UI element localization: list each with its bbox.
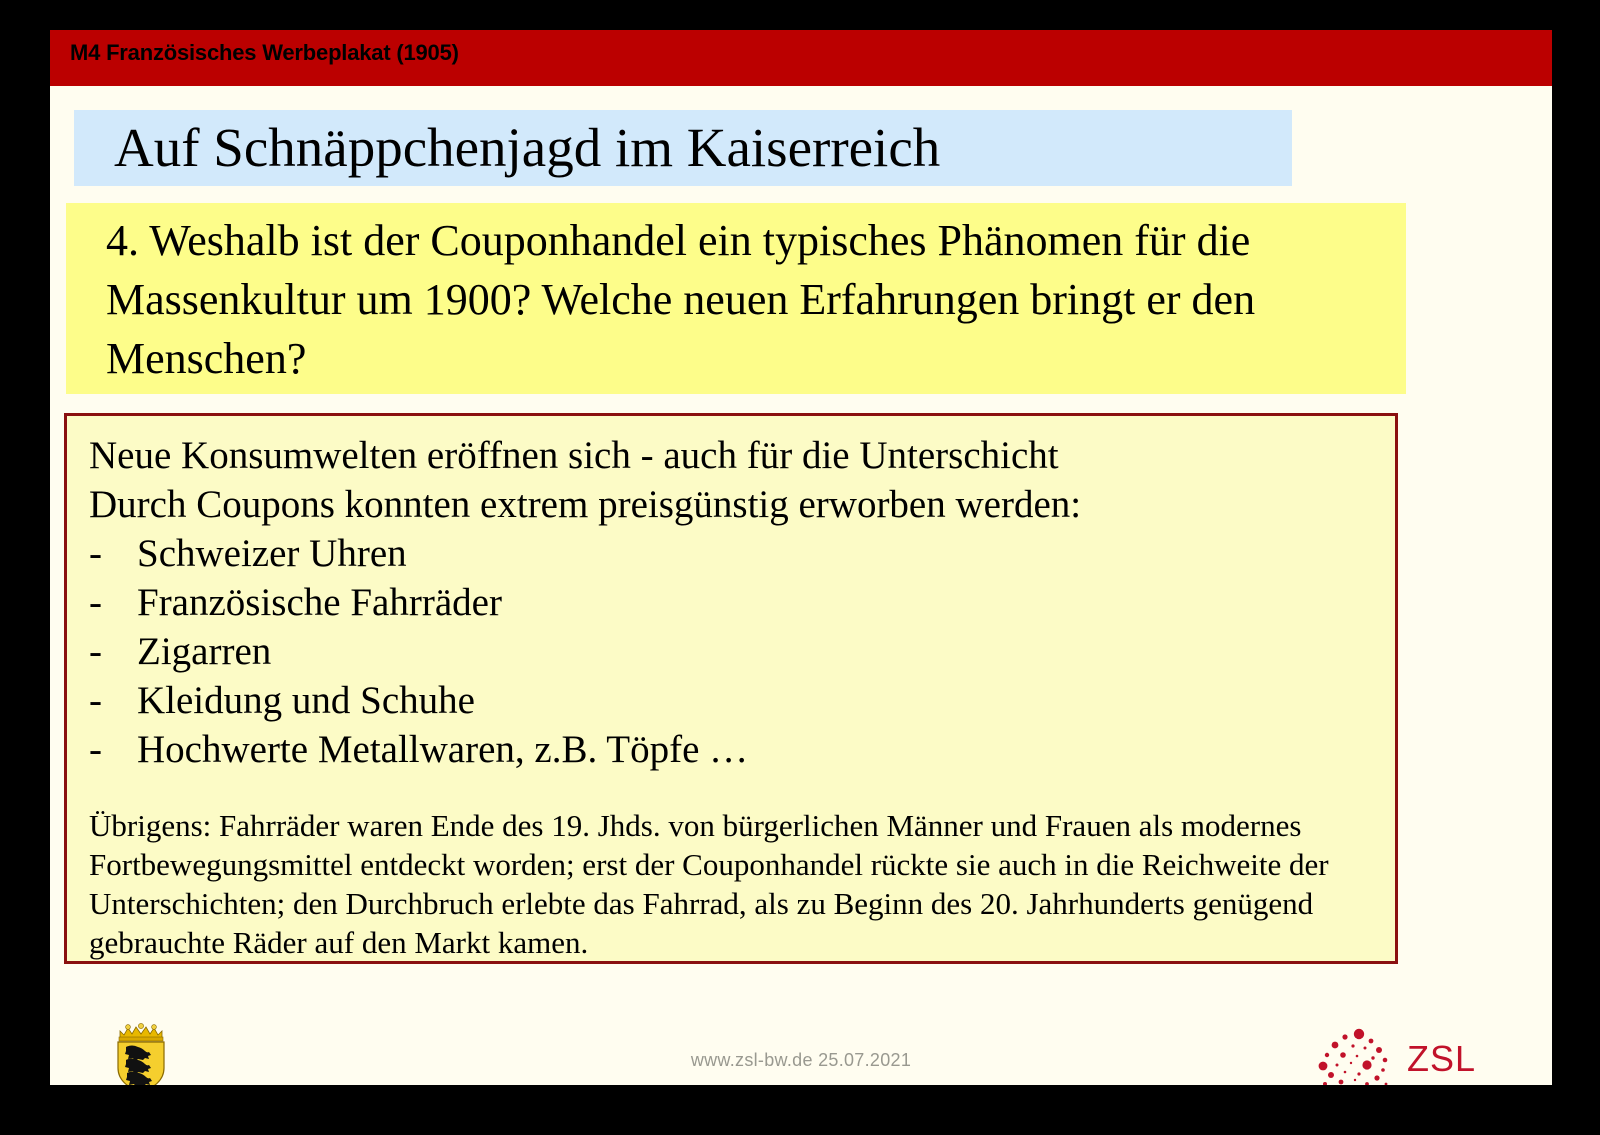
slide-footer: www.zsl-bw.de 25.07.2021 [50,970,1552,1085]
bullet-dash-icon: - [89,628,137,676]
list-item: -Hochwerte Metallwaren, z.B. Töpfe … [89,726,748,774]
bullet-dash-icon: - [89,530,137,578]
list-item-label: Zigarren [137,630,271,673]
answer-heading-line: Neue Konsumwelten eröffnen sich - auch f… [89,432,1059,480]
zsl-logo: ZSL [1307,1022,1497,1085]
question-box: 4. Weshalb ist der Couponhandel ein typi… [66,203,1406,394]
question-text: 4. Weshalb ist der Couponhandel ein typi… [106,211,1396,388]
header-material-label: M4 Französisches Werbeplakat (1905) [70,40,459,66]
bullet-dash-icon: - [89,579,137,627]
list-item-label: Französische Fahrräder [137,581,502,624]
page-title: Auf Schnäppchenjagd im Kaiserreich [114,112,940,184]
list-item-label: Hochwerte Metallwaren, z.B. Töpfe … [137,728,748,771]
title-bar: Auf Schnäppchenjagd im Kaiserreich [74,110,1292,186]
list-item-label: Schweizer Uhren [137,532,407,575]
bullet-dash-icon: - [89,677,137,725]
header-banner: M4 Französisches Werbeplakat (1905) [50,30,1552,86]
list-item: -Französische Fahrräder [89,579,502,627]
list-item-label: Kleidung und Schuhe [137,679,475,722]
slide-frame: M4 Französisches Werbeplakat (1905) Auf … [50,30,1552,1085]
list-item: -Zigarren [89,628,271,676]
list-item: -Kleidung und Schuhe [89,677,475,725]
zsl-wordmark-text: ZSL [1407,1038,1476,1080]
answer-intro-line: Durch Coupons konnten extrem preisgünsti… [89,481,1081,529]
note-paragraph: Übrigens: Fahrräder waren Ende des 19. J… [89,806,1379,962]
zsl-dot-spiral-icon [1307,1022,1397,1085]
list-item: -Schweizer Uhren [89,530,407,578]
answer-content-box: Neue Konsumwelten eröffnen sich - auch f… [64,413,1398,964]
bullet-dash-icon: - [89,726,137,774]
